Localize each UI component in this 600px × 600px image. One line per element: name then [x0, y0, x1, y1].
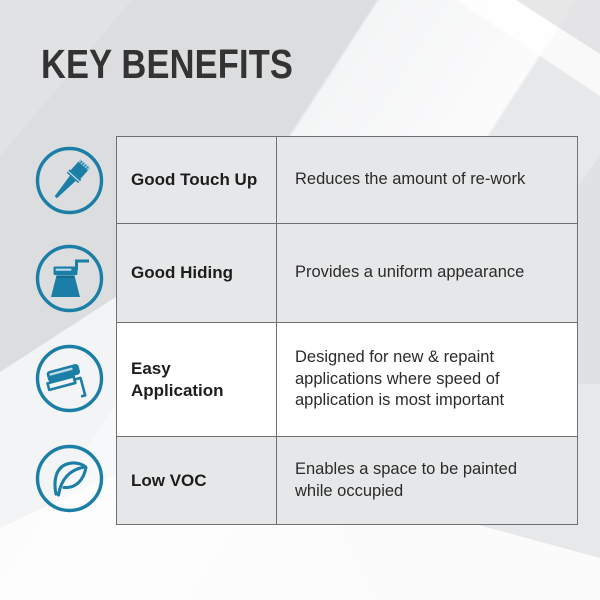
- paint-roller-icon: [34, 343, 105, 414]
- benefit-description-line: Reduces the amount of re-work: [295, 169, 525, 191]
- benefit-label-line: Easy: [131, 358, 224, 379]
- paint-roller-coverage-icon: [34, 243, 105, 314]
- table-row: Low VOC Enables a space to be painted wh…: [117, 437, 577, 524]
- table-row: Easy Application Designed for new & repa…: [117, 323, 577, 437]
- benefits-table: Good Touch Up Reduces the amount of re-w…: [116, 136, 578, 525]
- benefit-description-line: applications where speed of: [295, 369, 504, 391]
- benefit-description-line: Designed for new & repaint: [295, 347, 504, 369]
- table-row: Good Hiding Provides a uniform appearanc…: [117, 224, 577, 323]
- benefit-description-line: application is most important: [295, 390, 504, 412]
- benefit-icon-column: [34, 136, 106, 526]
- benefit-label: Good Touch Up: [117, 137, 277, 223]
- benefit-description: Provides a uniform appearance: [277, 224, 577, 322]
- benefit-description-line: Enables a space to be painted: [295, 459, 517, 481]
- key-benefits-infographic: KEY BENEFITS: [0, 0, 600, 600]
- benefit-description: Designed for new & repaint applications …: [277, 323, 577, 436]
- table-row: Good Touch Up Reduces the amount of re-w…: [117, 137, 577, 224]
- benefit-description: Reduces the amount of re-work: [277, 137, 577, 223]
- paint-brush-icon: [34, 145, 105, 216]
- benefit-label-line: Good Hiding: [131, 262, 233, 283]
- benefit-description: Enables a space to be painted while occu…: [277, 437, 577, 524]
- benefit-label-line: Low VOC: [131, 470, 207, 491]
- page-title: KEY BENEFITS: [41, 44, 293, 85]
- benefit-label-line: Application: [131, 380, 224, 401]
- benefit-label: Good Hiding: [117, 224, 277, 322]
- benefit-description-line: Provides a uniform appearance: [295, 262, 524, 284]
- benefit-label: Low VOC: [117, 437, 277, 524]
- benefit-description-line: while occupied: [295, 481, 517, 503]
- benefit-label: Easy Application: [117, 323, 277, 436]
- leaf-icon: [34, 443, 105, 514]
- benefit-label-line: Good Touch Up: [131, 169, 257, 190]
